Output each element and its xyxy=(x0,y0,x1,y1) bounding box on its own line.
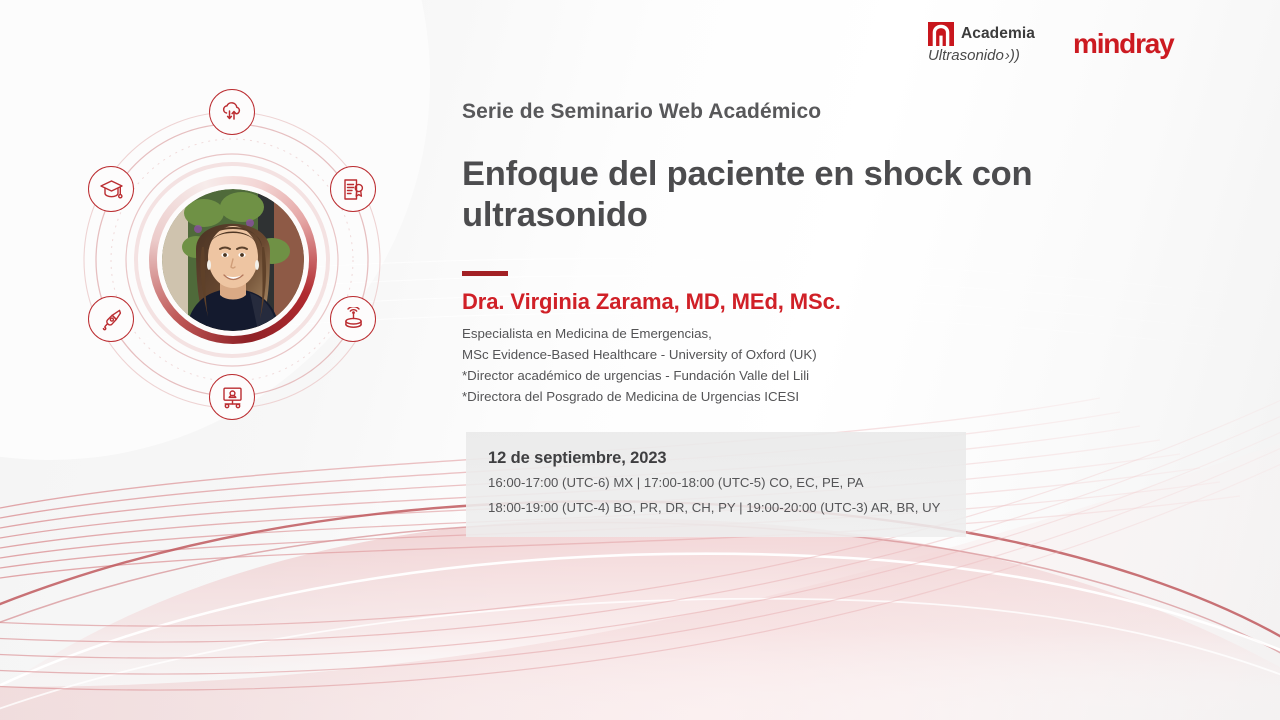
logo-bar: Academia Ultrasonido ›)) mindray xyxy=(928,22,1206,64)
series-eyebrow: Serie de Seminario Web Académico xyxy=(462,100,1222,124)
speaker-photo xyxy=(162,189,304,331)
credential-line: MSc Evidence-Based Healthcare - Universi… xyxy=(462,345,1222,366)
credential-line: *Directora del Posgrado de Medicina de U… xyxy=(462,387,1222,408)
speaker-credentials: Especialista en Medicina de Emergencias,… xyxy=(462,324,1222,407)
event-date: 12 de septiembre, 2023 xyxy=(488,449,944,468)
portrait-frame xyxy=(162,189,304,331)
sound-wave-icon: ›)) xyxy=(1005,47,1020,64)
schedule-box: 12 de septiembre, 2023 16:00-17:00 (UTC-… xyxy=(466,432,966,537)
academia-wordmark: Academia xyxy=(961,25,1035,43)
graduation-cap-icon xyxy=(88,166,134,212)
accent-divider xyxy=(462,271,508,276)
svg-text:mindray: mindray xyxy=(1073,28,1175,59)
ultrasound-cart-icon xyxy=(209,374,255,420)
academia-ultrasonido-logo: Academia Ultrasonido ›)) xyxy=(928,22,1035,64)
webinar-slide: Academia Ultrasonido ›)) mindray xyxy=(0,0,1280,720)
ultrasonido-wordmark: Ultrasonido xyxy=(928,47,1004,64)
avatar xyxy=(162,189,304,331)
ultrasound-probe-icon xyxy=(88,296,134,342)
wireless-probe-icon xyxy=(330,296,376,342)
credential-line: Especialista en Medicina de Emergencias, xyxy=(462,324,1222,345)
mindray-logo: mindray xyxy=(1073,28,1206,59)
speaker-name: Dra. Virginia Zarama, MD, MEd, MSc. xyxy=(462,289,1222,315)
event-time-line: 16:00-17:00 (UTC-6) MX | 17:00-18:00 (UT… xyxy=(488,473,944,493)
cloud-sync-icon xyxy=(209,89,255,135)
academia-m-mark-icon xyxy=(928,22,954,46)
certificate-icon xyxy=(330,166,376,212)
content-column: Serie de Seminario Web Académico Enfoque… xyxy=(462,100,1222,407)
credential-line: *Director académico de urgencias - Funda… xyxy=(462,366,1222,387)
event-time-line: 18:00-19:00 (UTC-4) BO, PR, DR, CH, PY |… xyxy=(488,498,944,518)
page-title: Enfoque del paciente en shock con ultras… xyxy=(462,154,1152,235)
speaker-visual-group xyxy=(52,78,412,458)
